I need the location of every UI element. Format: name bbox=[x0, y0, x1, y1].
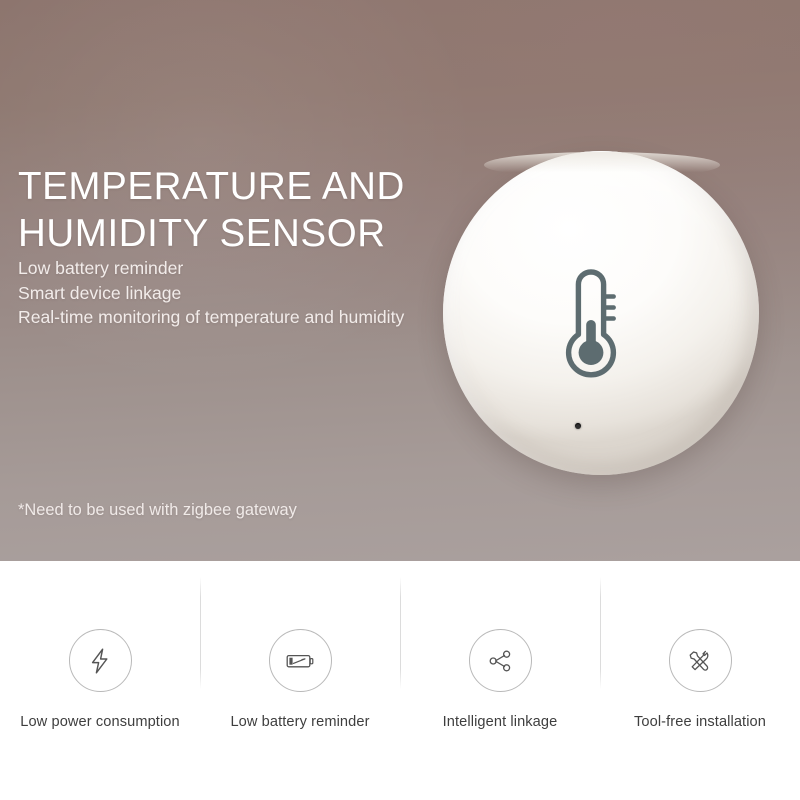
feature-icon-circle bbox=[469, 629, 532, 692]
battery-low-icon bbox=[284, 646, 316, 676]
feature-bullet-list: Low battery reminder Smart device linkag… bbox=[18, 256, 458, 330]
feature-icon-circle bbox=[669, 629, 732, 692]
feature-label: Intelligent linkage bbox=[443, 714, 558, 730]
bullet-item-3: Real-time monitoring of temperature and … bbox=[18, 305, 458, 330]
feature-strip: Low power consumption Low battery remind… bbox=[0, 561, 800, 800]
tools-icon bbox=[684, 645, 716, 677]
headline-line-1: TEMPERATURE AND bbox=[18, 163, 438, 210]
thermometer-icon bbox=[560, 264, 622, 382]
feature-label: Low battery reminder bbox=[230, 714, 369, 730]
sensor-hole bbox=[575, 423, 581, 429]
feature-item-intelligent-linkage: Intelligent linkage bbox=[400, 561, 600, 800]
feature-label: Tool-free installation bbox=[634, 714, 766, 730]
gateway-requirement-note: *Need to be used with zigbee gateway bbox=[18, 500, 297, 520]
feature-label: Low power consumption bbox=[20, 714, 179, 730]
feature-item-tool-free-installation: Tool-free installation bbox=[600, 561, 800, 800]
feature-item-low-battery: Low battery reminder bbox=[200, 561, 400, 800]
page-title: TEMPERATURE AND HUMIDITY SENSOR bbox=[18, 163, 438, 257]
lightning-bolt-icon bbox=[85, 646, 115, 676]
feature-item-low-power: Low power consumption bbox=[0, 561, 200, 800]
headline-line-2: HUMIDITY SENSOR bbox=[18, 210, 438, 257]
feature-icon-circle bbox=[69, 629, 132, 692]
product-image bbox=[432, 148, 768, 488]
bullet-item-2: Smart device linkage bbox=[18, 281, 458, 306]
product-marketing-page: TEMPERATURE AND HUMIDITY SENSOR Low batt… bbox=[0, 0, 800, 800]
feature-icon-circle bbox=[269, 629, 332, 692]
share-nodes-icon bbox=[485, 646, 515, 676]
bullet-item-1: Low battery reminder bbox=[18, 256, 458, 281]
hero-banner: TEMPERATURE AND HUMIDITY SENSOR Low batt… bbox=[0, 0, 800, 561]
